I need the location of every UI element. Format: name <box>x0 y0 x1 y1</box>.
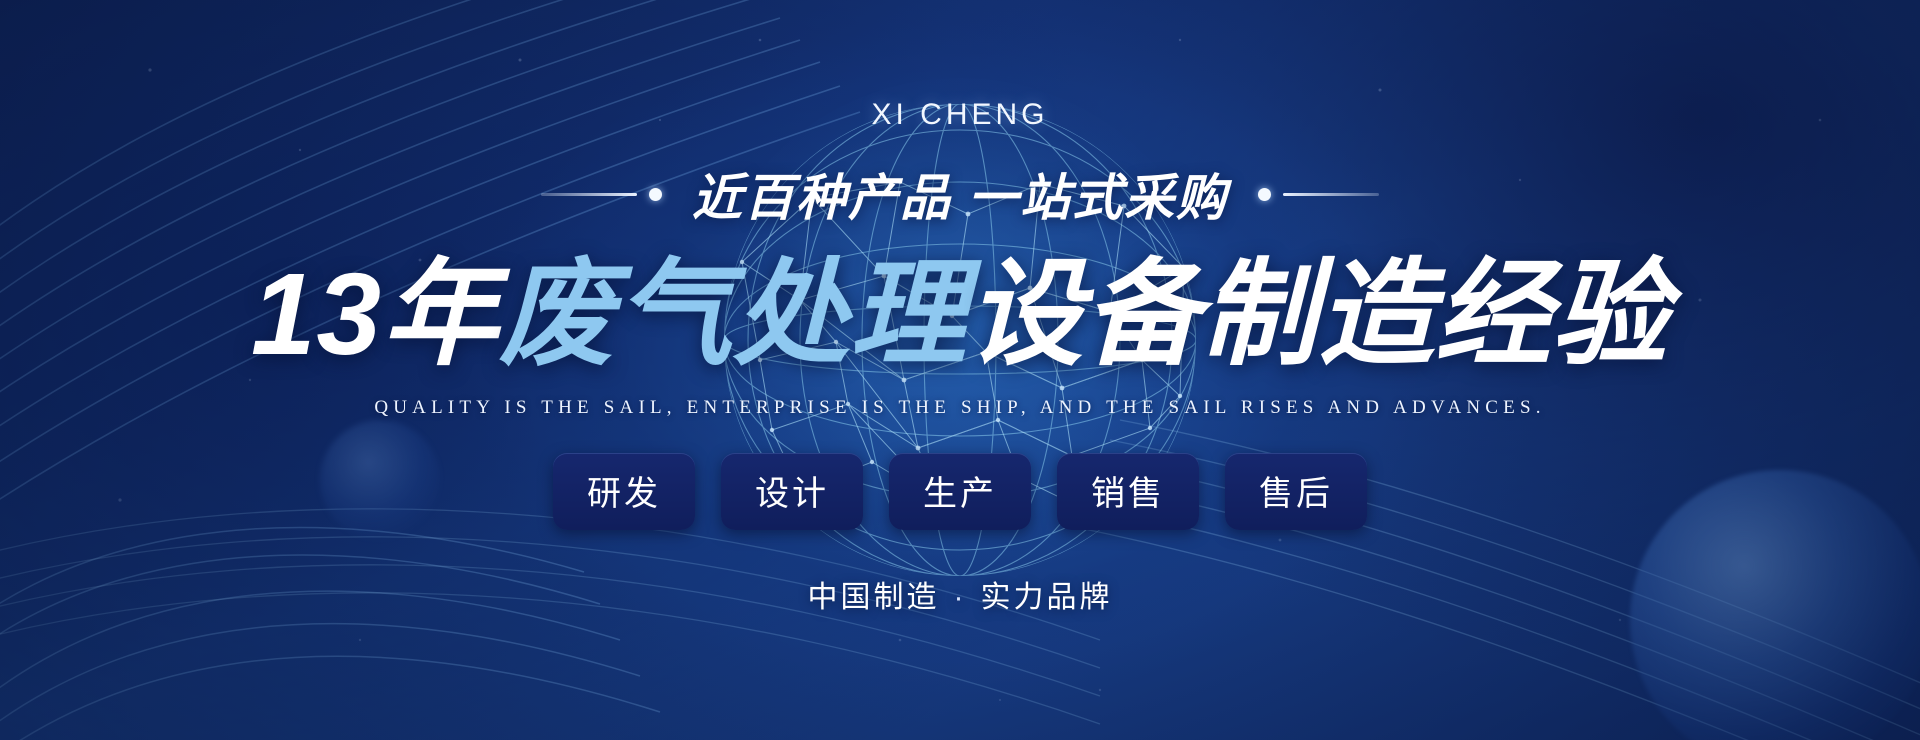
footer-separator: · <box>954 581 967 614</box>
brand-name-en: XI CHENG <box>871 98 1048 132</box>
service-pill-sales[interactable]: 销售 <box>1057 453 1199 530</box>
headline-highlight: 废气处理 <box>499 249 967 379</box>
banner-content: XI CHENG 近百种产品 一站式采购 13年废气处理设备制造经验 QUALI… <box>0 0 1920 740</box>
headline-prefix: 13年 <box>251 249 499 379</box>
service-pill-aftersales[interactable]: 售后 <box>1225 453 1367 530</box>
tagline-en: QUALITY IS THE SAIL, ENTERPRISE IS THE S… <box>374 397 1545 419</box>
service-pill-design[interactable]: 设计 <box>721 453 863 530</box>
service-pill-row: 研发 设计 生产 销售 售后 <box>553 453 1367 530</box>
deco-line-left <box>541 188 662 201</box>
service-pill-production[interactable]: 生产 <box>889 453 1031 530</box>
subheadline-row: 近百种产品 一站式采购 <box>541 158 1379 230</box>
footer-slogan: 中国制造·实力品牌 <box>808 572 1113 616</box>
headline-suffix: 设备制造经验 <box>967 249 1669 379</box>
deco-line-right <box>1258 188 1379 201</box>
hero-banner: XI CHENG 近百种产品 一站式采购 13年废气处理设备制造经验 QUALI… <box>0 0 1920 740</box>
footer-slogan-right: 实力品牌 <box>981 581 1113 614</box>
subheadline-text: 近百种产品 一站式采购 <box>692 158 1228 230</box>
service-pill-rd[interactable]: 研发 <box>553 453 695 530</box>
headline: 13年废气处理设备制造经验 <box>251 252 1669 377</box>
footer-slogan-left: 中国制造 <box>808 581 940 614</box>
